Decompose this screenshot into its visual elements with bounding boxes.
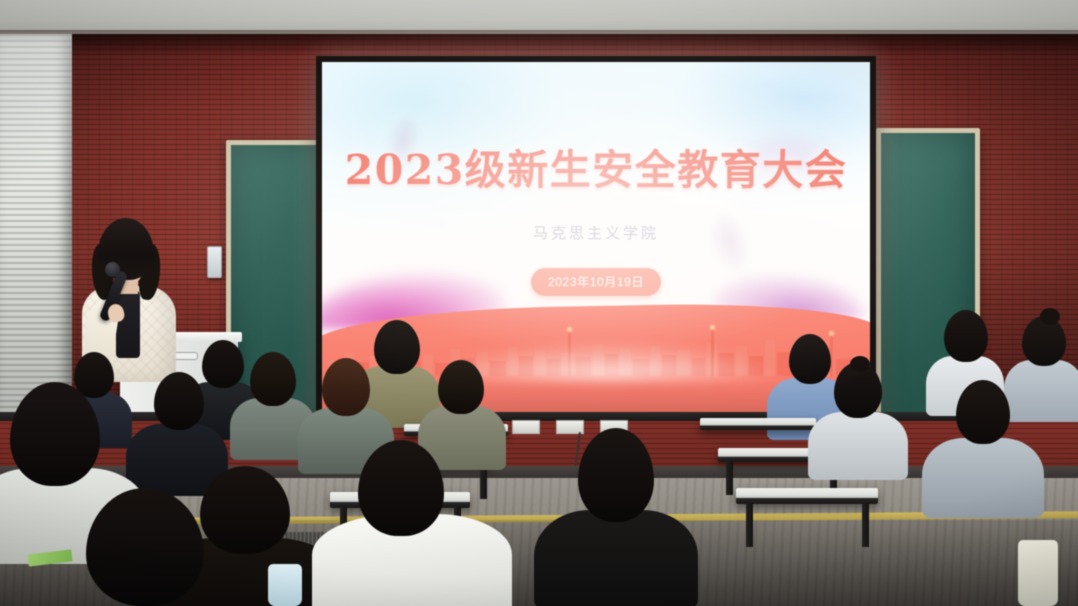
slide-subtitle: 马克思主义学院 xyxy=(322,222,870,243)
wall-outlet[interactable] xyxy=(512,420,540,434)
desk-leg xyxy=(746,503,753,547)
water-bottle-cream xyxy=(1018,540,1058,606)
desk-surface xyxy=(736,488,878,504)
person-head xyxy=(322,358,370,416)
person-head xyxy=(250,352,296,406)
person-hair-bun xyxy=(1040,308,1060,325)
desk-leg xyxy=(862,503,869,547)
decorative-wisp-icon xyxy=(701,207,759,280)
list-item xyxy=(560,428,670,606)
list-item xyxy=(940,380,1026,504)
wall-switch[interactable] xyxy=(207,246,222,278)
person-head xyxy=(578,428,654,522)
person-head xyxy=(10,382,100,486)
person-head xyxy=(358,440,444,536)
list-item xyxy=(822,362,894,468)
desk-leg xyxy=(726,461,733,495)
person-head xyxy=(944,310,988,362)
person-torso xyxy=(808,412,908,480)
person-head xyxy=(438,360,484,414)
desk xyxy=(700,418,816,430)
person-head xyxy=(154,372,204,430)
desk xyxy=(736,488,878,504)
list-item xyxy=(330,440,490,606)
list-item xyxy=(86,488,216,606)
person-torso xyxy=(922,438,1044,518)
speaker-inner-top xyxy=(116,288,140,358)
person-hair-bun xyxy=(850,356,870,372)
person-head xyxy=(86,488,204,606)
water-bottle-blue xyxy=(268,564,302,606)
desk-surface xyxy=(700,418,816,430)
slide-date-badge: 2023年10月19日 xyxy=(531,268,661,296)
person-head xyxy=(956,380,1010,444)
slide-title: 2023级新生安全教育大会 xyxy=(322,136,870,196)
lecture-hall-photo: 2023级新生安全教育大会 马克思主义学院 2023年10月19日 xyxy=(0,0,1078,606)
person-torso xyxy=(534,510,698,606)
list-item xyxy=(240,352,306,450)
